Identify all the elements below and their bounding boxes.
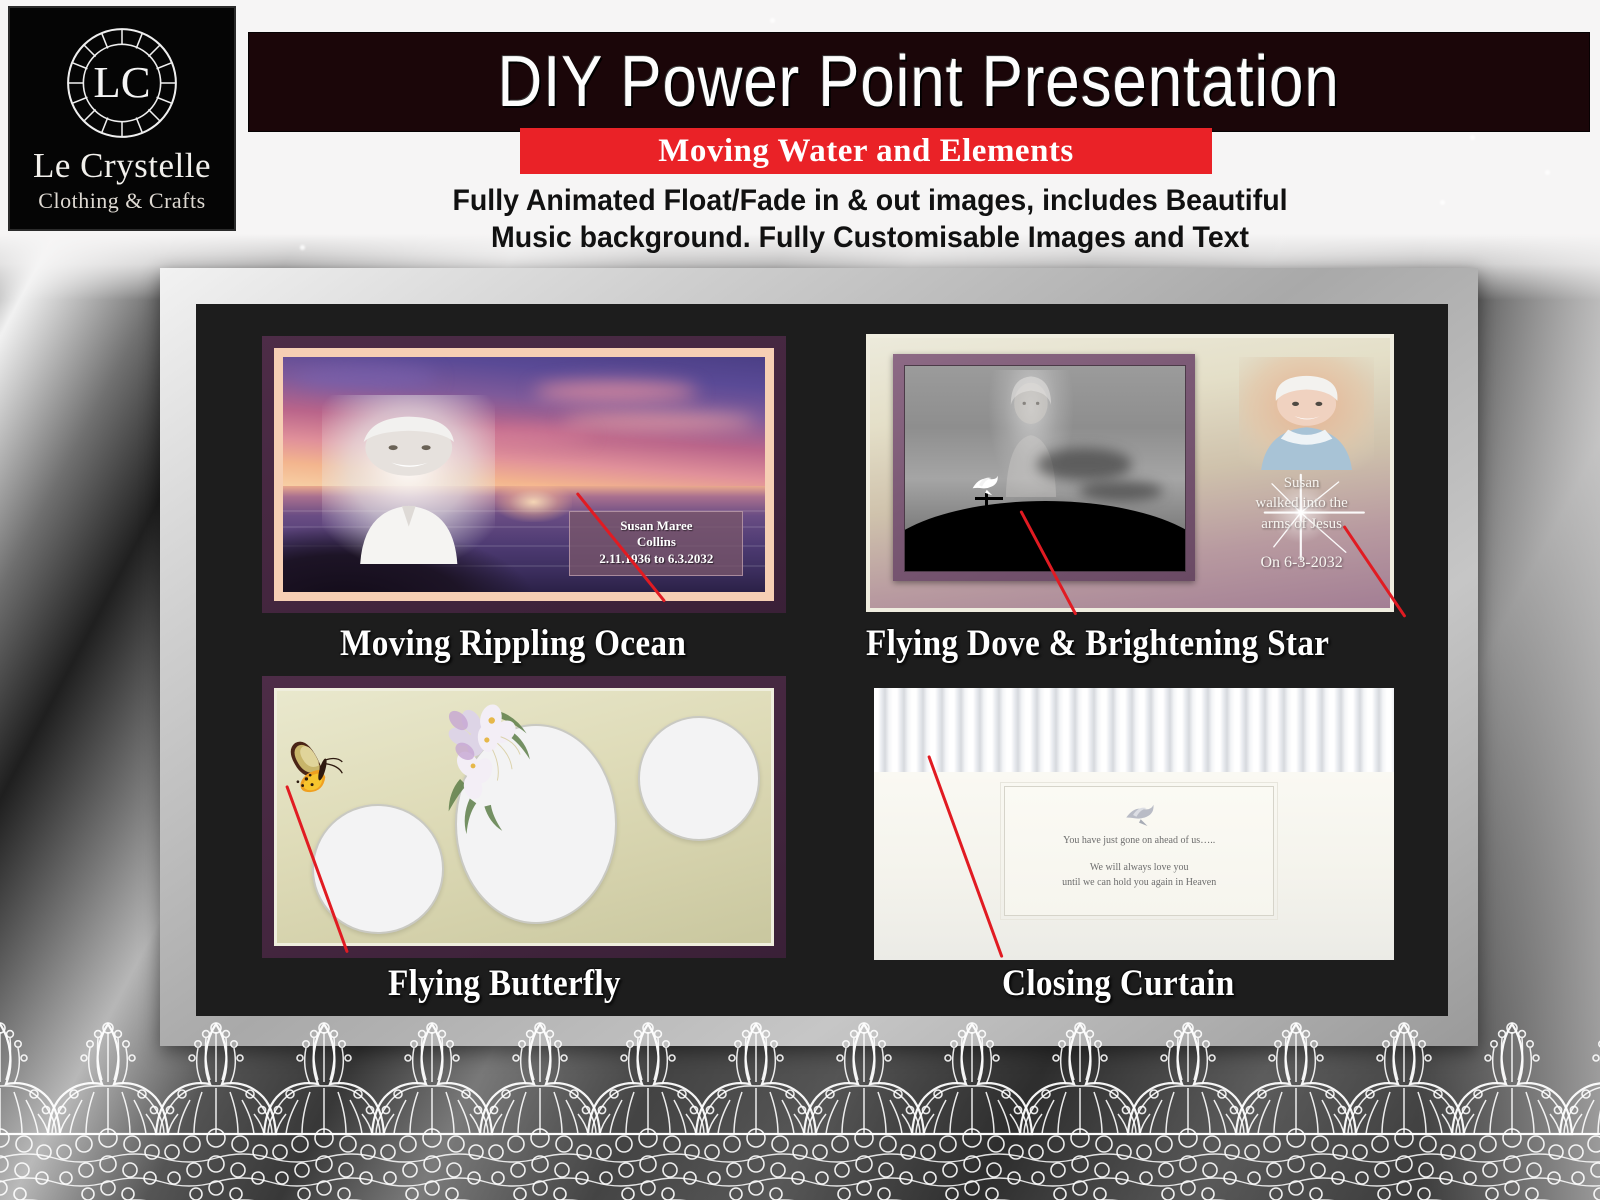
subtitle-text: Moving Water and Elements: [658, 133, 1074, 170]
dove-photo: [904, 365, 1186, 572]
cloud-shape: [1037, 448, 1132, 481]
slide-canvas: LC Le Crystelle Clothing & Crafts DIY Po…: [0, 0, 1600, 1200]
title-banner: DIY Power Point Presentation: [248, 32, 1590, 132]
memorial-line-3: arms of Jesus: [1224, 514, 1380, 534]
page-title: DIY Power Point Presentation: [498, 46, 1340, 118]
butterfly-mat-inner: [274, 688, 774, 946]
caption-curtain: Closing Curtain: [1002, 962, 1235, 1005]
floral-spray-icon: [430, 701, 549, 847]
dove-photo-frame: [893, 354, 1195, 581]
sparkle-icon: [770, 18, 775, 23]
dove-icon: [1122, 802, 1156, 828]
ocean-photo-border: Susan Maree Collins 2.11.1936 to 6.3.203…: [274, 348, 774, 601]
lace-border: [0, 1000, 1600, 1200]
brand-tagline: Clothing & Crafts: [38, 188, 205, 214]
cloud-shape: [563, 413, 756, 429]
subtitle-banner: Moving Water and Elements: [520, 128, 1212, 174]
memorial-date: On 6-3-2032: [1224, 552, 1380, 574]
curtain-line-1: You have just gone on ahead of us…..: [1005, 833, 1273, 848]
caption-butterfly: Flying Butterfly: [388, 962, 621, 1005]
sparkle-icon: [1545, 170, 1550, 175]
caption-dove: Flying Dove & Brightening Star: [866, 622, 1329, 665]
svg-text:LC: LC: [93, 57, 150, 107]
description-line-1: Fully Animated Float/Fade in & out image…: [329, 183, 1412, 220]
plaque-line-2: Collins: [574, 534, 738, 551]
ocean-mat: Susan Maree Collins 2.11.1936 to 6.3.203…: [262, 336, 786, 613]
memorial-text: Susan walked into the arms of Jesus On 6…: [1224, 473, 1380, 574]
panel-ocean[interactable]: Susan Maree Collins 2.11.1936 to 6.3.203…: [262, 336, 786, 613]
description-line-2: Music background. Fully Customisable Ima…: [329, 220, 1412, 257]
crystal-gem-icon: LC: [61, 22, 183, 144]
panel-dove[interactable]: Susan walked into the arms of Jesus On 6…: [866, 334, 1394, 612]
curtain-message-card: You have just gone on ahead of us….. We …: [1004, 786, 1274, 917]
sparkle-icon: [300, 245, 305, 250]
photo-placeholder-oval[interactable]: [638, 716, 761, 841]
curtain-line-3: until we can hold you again in Heaven: [1005, 875, 1273, 890]
curtain-drape: [874, 688, 1394, 772]
ocean-mat-inner: Susan Maree Collins 2.11.1936 to 6.3.203…: [274, 348, 774, 601]
portrait-susan-faded: [322, 395, 496, 564]
lace-pattern: [0, 1000, 1600, 1200]
portrait-susan-inset: [1239, 357, 1374, 470]
caption-ocean: Moving Rippling Ocean: [340, 622, 686, 665]
butterfly-icon: [282, 726, 361, 802]
curtain-line-2: We will always love you: [1005, 860, 1273, 875]
curtain-message: You have just gone on ahead of us….. We …: [1005, 833, 1273, 890]
brand-name: Le Crystelle: [33, 148, 211, 183]
memorial-plaque: Susan Maree Collins 2.11.1936 to 6.3.203…: [569, 511, 743, 576]
dove-mat: Susan walked into the arms of Jesus On 6…: [866, 334, 1394, 612]
sparkle-icon: [1470, 135, 1475, 140]
brand-logo: LC Le Crystelle Clothing & Crafts: [8, 6, 236, 231]
memorial-line-1: Susan: [1224, 473, 1380, 493]
sparkle-icon: [1440, 200, 1445, 205]
cloud-shape: [1079, 481, 1163, 501]
sun-reflection: [495, 482, 572, 522]
butterfly-mat-outer: [262, 676, 786, 958]
description-block: Fully Animated Float/Fade in & out image…: [329, 183, 1412, 256]
plaque-line-3: 2.11.1936 to 6.3.2032: [574, 551, 738, 568]
dove-icon: [967, 471, 1003, 498]
memorial-line-2: walked into the: [1224, 493, 1380, 513]
cloud-shape: [293, 366, 438, 390]
cloud-shape: [534, 381, 698, 402]
butterfly-canvas: [274, 688, 774, 946]
panel-butterfly[interactable]: [262, 676, 786, 958]
cross-icon: [975, 497, 1003, 500]
